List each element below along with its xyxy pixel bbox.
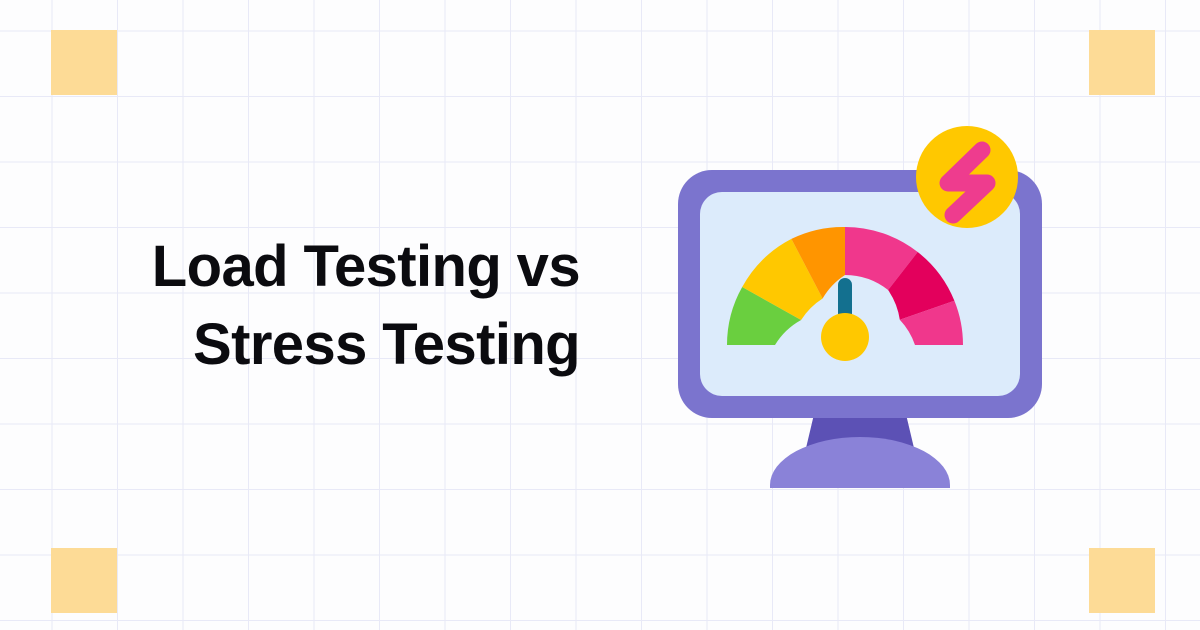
page-title-line-2: Stress Testing (60, 306, 580, 384)
monitor-stand-base (770, 437, 950, 488)
lightning-bolt-badge (916, 126, 1018, 228)
accent-square-bottom-right (1089, 548, 1155, 613)
accent-square-top-left (51, 30, 117, 95)
page-title-line-1: Load Testing vs (60, 228, 580, 306)
performance-gauge-monitor-illustration (660, 110, 1060, 510)
page-title: Load Testing vs Stress Testing (60, 228, 580, 384)
social-card: Load Testing vs Stress Testing (0, 0, 1200, 630)
accent-square-bottom-left (51, 548, 117, 613)
accent-square-top-right (1089, 30, 1155, 95)
gauge-hub (821, 313, 869, 361)
